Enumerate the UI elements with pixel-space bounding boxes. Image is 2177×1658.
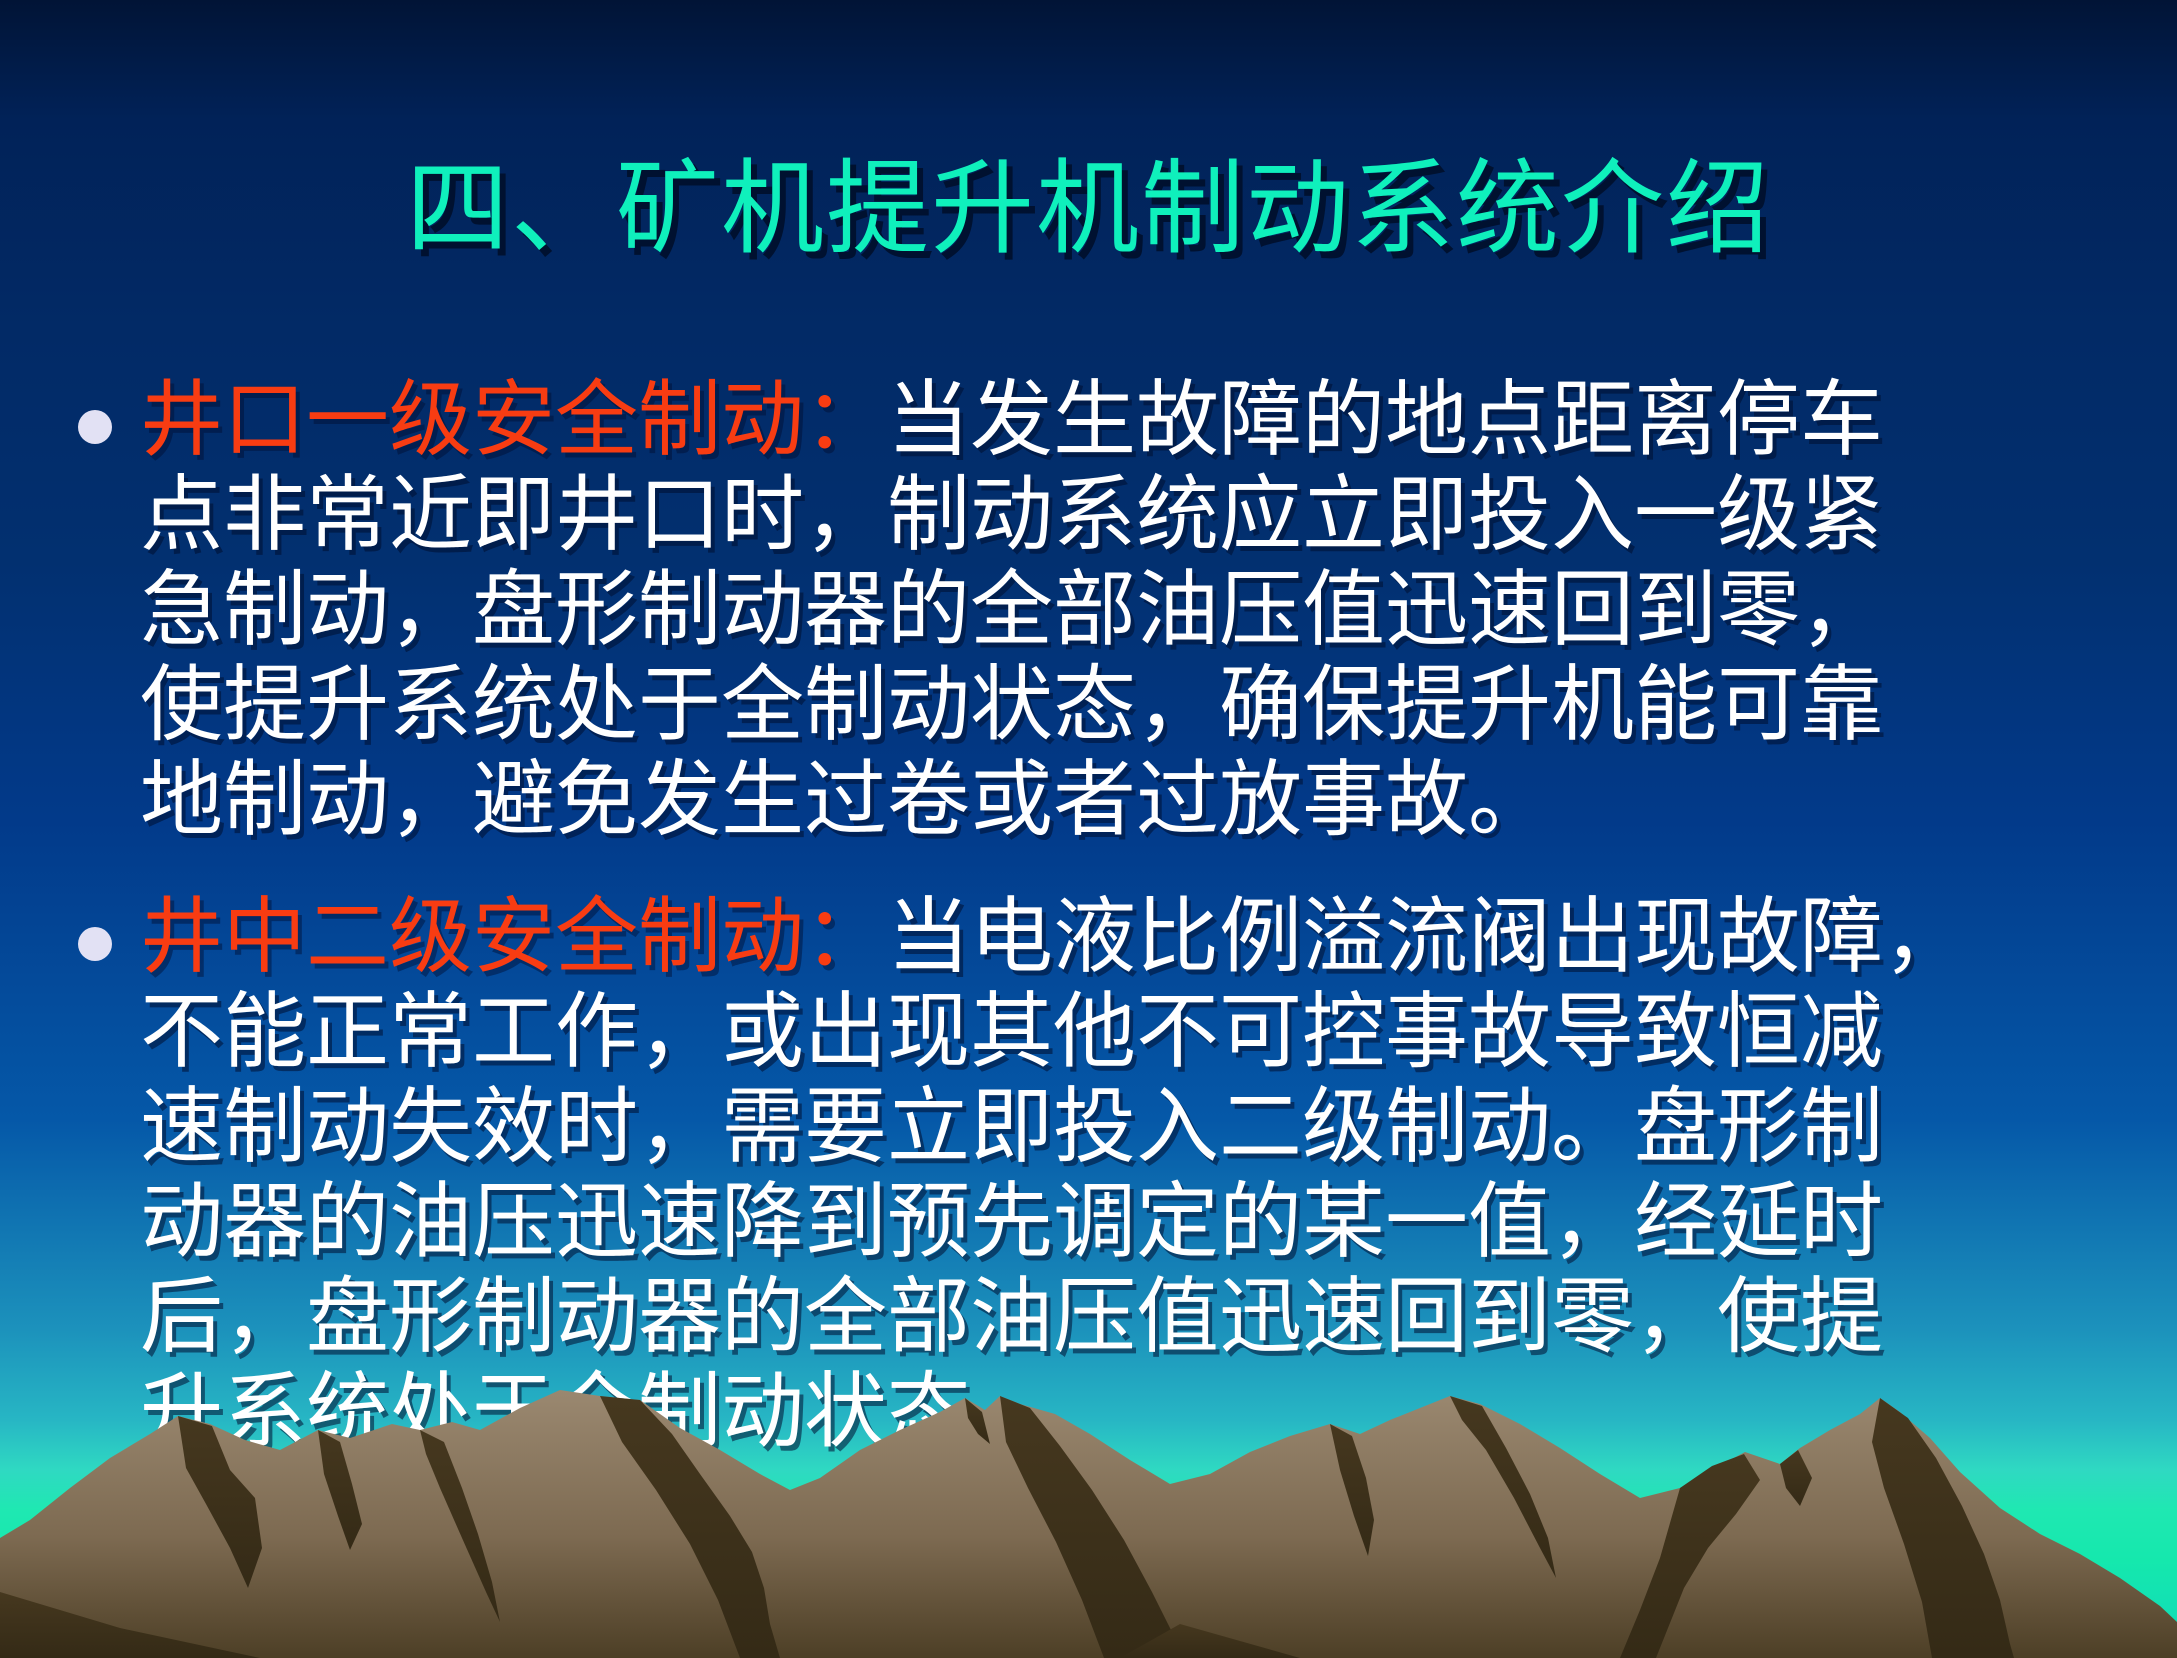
slide-title-container: 四、矿机提升机制动系统介绍 — [0, 86, 2177, 332]
bullet-line: 井口一级安全制动：当发生故障的地点距离停车 — [140, 372, 2108, 467]
bullet-line-text: 当电液比例溢流阀出现故障， — [887, 888, 1966, 985]
bullet-line: 后，盘形制动器的全部油压值迅速回到零，使提 — [140, 1269, 2108, 1364]
list-item: 井口一级安全制动：当发生故障的地点距离停车 点非常近即井口时，制动系统应立即投入… — [78, 372, 2108, 847]
presentation-slide: 四、矿机提升机制动系统介绍 井口一级安全制动：当发生故障的地点距离停车 点非常近… — [0, 0, 2177, 1658]
oval-bullet-icon — [78, 927, 112, 961]
bullet-line: 使提升系统处于全制动状态，确保提升机能可靠 — [140, 657, 2108, 752]
slide-body: 井口一级安全制动：当发生故障的地点距离停车 点非常近即井口时，制动系统应立即投入… — [78, 372, 2108, 1501]
bullet-lead-label: 井口一级安全制动： — [140, 371, 887, 468]
bullet-paragraph-1: 井口一级安全制动：当发生故障的地点距离停车 点非常近即井口时，制动系统应立即投入… — [140, 372, 2108, 847]
bullet-line: 动器的油压迅速降到预先调定的某一值，经延时 — [140, 1174, 2108, 1269]
page-title: 四、矿机提升机制动系统介绍 — [406, 155, 1771, 263]
bullet-line: 井中二级安全制动：当电液比例溢流阀出现故障， — [140, 889, 2108, 984]
bullet-line-text: 当发生故障的地点距离停车 — [887, 371, 1883, 468]
bullet-line: 急制动，盘形制动器的全部油压值迅速回到零， — [140, 562, 2108, 657]
bullet-paragraph-2: 井中二级安全制动：当电液比例溢流阀出现故障， 不能正常工作，或出现其他不可控事故… — [140, 889, 2108, 1459]
bullet-line: 点非常近即井口时，制动系统应立即投入一级紧 — [140, 467, 2108, 562]
bullet-line: 地制动，避免发生过卷或者过放事故。 — [140, 752, 2108, 847]
bullet-line: 速制动失效时，需要立即投入二级制动。盘形制 — [140, 1079, 2108, 1174]
bullet-lead-label: 井中二级安全制动： — [140, 888, 887, 985]
bullet-line: 不能正常工作，或出现其他不可控事故导致恒减 — [140, 984, 2108, 1079]
bullet-line: 升系统处于全制动状态。 — [140, 1364, 2108, 1459]
list-item: 井中二级安全制动：当电液比例溢流阀出现故障， 不能正常工作，或出现其他不可控事故… — [78, 889, 2108, 1459]
oval-bullet-icon — [78, 410, 112, 444]
